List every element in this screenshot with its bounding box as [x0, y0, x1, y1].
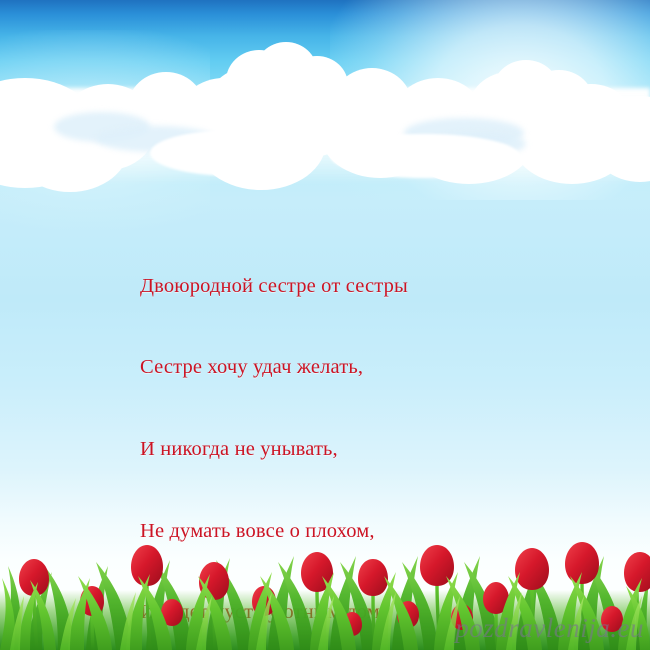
cloud-puff: [392, 78, 484, 158]
cloud-puff: [492, 60, 560, 124]
poem-line: И будет пусть уютным дом!: [140, 599, 560, 626]
tulip: [601, 606, 623, 632]
cloud-puff: [468, 72, 550, 150]
cloud-puff: [208, 68, 286, 140]
tulip: [624, 552, 650, 592]
cloud-shadow: [54, 112, 150, 142]
cloud-puff: [250, 74, 360, 158]
cloud-shadow: [96, 126, 216, 152]
tulip: [19, 559, 49, 596]
cloud-shadow: [430, 132, 526, 156]
tulip: [80, 586, 104, 616]
poem-text: Двоюродной сестре от сестры Сестре хочу …: [140, 164, 560, 650]
cloud-puff: [128, 72, 204, 142]
cloud-puff: [178, 78, 270, 156]
cloud-puff: [286, 56, 348, 114]
cloud-puff: [226, 50, 292, 112]
tulip: [565, 542, 599, 584]
poem-stanza: Двоюродной сестре от сестры Сестре хочу …: [140, 218, 560, 650]
cloud-puff: [10, 96, 130, 192]
cloud-puff: [60, 84, 156, 170]
cloud-puff: [240, 86, 326, 160]
cloud-puff: [332, 68, 412, 142]
cloud-puff: [0, 78, 100, 188]
cloud-band: [0, 0, 650, 185]
cloud-puff: [255, 42, 317, 100]
cloud-shadow: [404, 118, 524, 148]
cloud-puff: [590, 96, 650, 182]
poem-line: И никогда не унывать,: [140, 436, 560, 463]
cloud-puff: [548, 84, 634, 160]
poem-line: Двоюродной сестре от сестры: [140, 273, 560, 300]
cloud-puff: [524, 70, 594, 136]
poem-line: Сестре хочу удач желать,: [140, 354, 560, 381]
cloud-puff: [440, 90, 536, 170]
poem-line: Не думать вовсе о плохом,: [140, 518, 560, 545]
greeting-card: Двоюродной сестре от сестры Сестре хочу …: [0, 0, 650, 650]
